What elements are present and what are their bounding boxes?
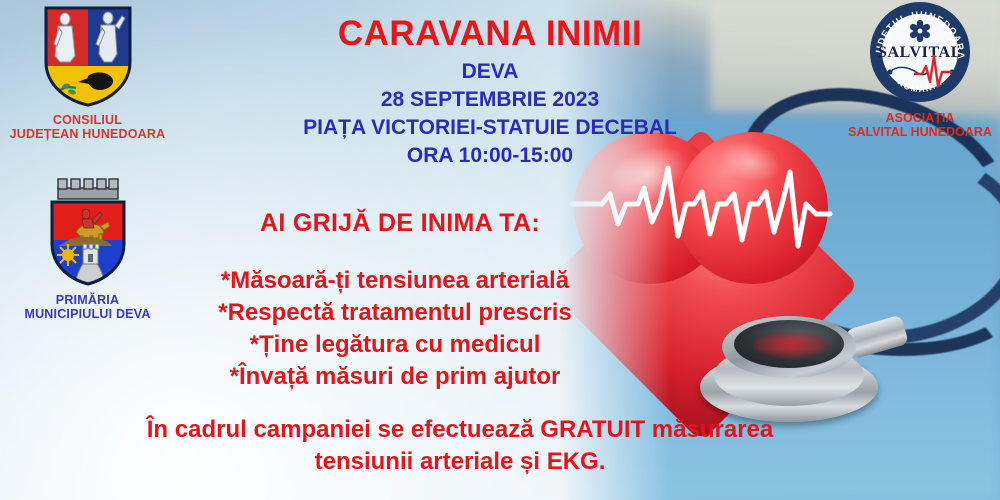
poster-callout: AI GRIJĂ DE INIMA TA: <box>140 209 660 238</box>
advice-item: *Respectă tratamentul prescris <box>130 297 660 329</box>
advice-item: *Ține legătura cu medicul <box>130 329 660 361</box>
event-city: DEVA <box>220 58 760 86</box>
salvital-seal-icon: JUDEȚUL HUNEDOARA ROMÂNIA SALVITAL <box>868 0 972 104</box>
poster-event-details: DEVA 28 SEPTEMBRIE 2023 PIAȚA VICTORIEI-… <box>220 58 760 170</box>
logo-caption-line: CONSILIUL <box>0 113 175 127</box>
event-location: PIAȚA VICTORIEI-STATUIE DECEBAL <box>220 114 760 142</box>
logo-caption: CONSILIUL JUDEȚEAN HUNEDOARA <box>0 113 175 141</box>
footer-line: tensiunii arteriale și EKG. <box>40 446 880 478</box>
footer-line: În cadrul campaniei se efectuează GRATUI… <box>40 414 880 446</box>
logo-caption-line: SALVITAL HUNEDOARA <box>845 125 995 139</box>
advice-item: *Învață măsuri de prim ajutor <box>130 361 660 393</box>
event-time: ORA 10:00-15:00 <box>220 142 760 170</box>
seal-brand-text: SALVITAL <box>878 44 962 61</box>
logo-asociatia-salvital-hunedoara: JUDEȚUL HUNEDOARA ROMÂNIA SALVITAL ASOCI… <box>845 0 995 140</box>
stethoscope-chestpiece-icon <box>700 310 878 422</box>
logo-consiliul-judetean-hunedoara: CONSILIUL JUDEȚEAN HUNEDOARA <box>0 4 175 141</box>
logo-caption: ASOCIAȚIA SALVITAL HUNEDOARA <box>845 111 995 140</box>
poster-advice-list: *Măsoară-ți tensiunea arterială *Respect… <box>130 265 660 393</box>
poster-canvas: CONSILIUL JUDEȚEAN HUNEDOARA <box>0 0 1000 500</box>
mural-crown <box>58 179 118 199</box>
poster-title: CARAVANA INIMII <box>220 14 760 54</box>
poster-footer-note: În cadrul campaniei se efectuează GRATUI… <box>40 414 880 479</box>
event-date: 28 SEPTEMBRIE 2023 <box>220 86 760 114</box>
deva-city-coat-of-arms-icon <box>42 170 134 288</box>
logo-caption-line: ASOCIAȚIA <box>845 111 995 125</box>
sun-icon <box>57 244 79 266</box>
advice-item: *Măsoară-ți tensiunea arterială <box>130 265 660 297</box>
hunedoara-county-coat-of-arms-icon <box>42 4 134 108</box>
logo-caption-line: JUDEȚEAN HUNEDOARA <box>0 127 175 141</box>
